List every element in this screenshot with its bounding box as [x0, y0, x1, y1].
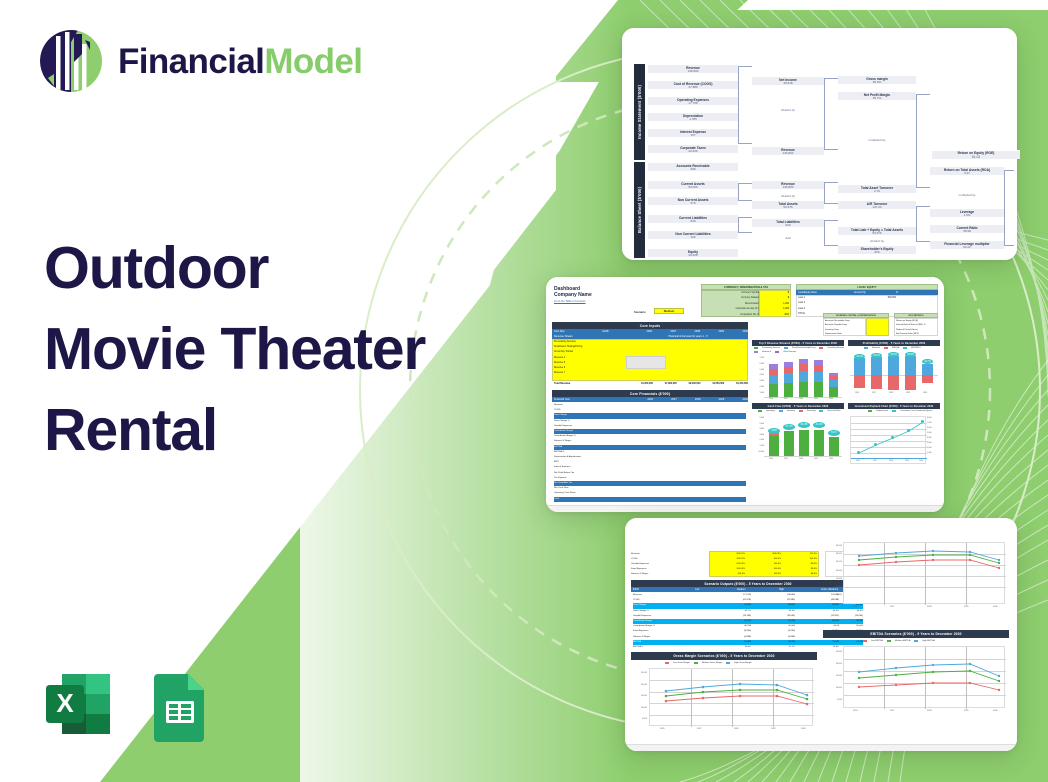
dupont-node: Gross margin65.0%	[838, 75, 916, 84]
dupont-node: Current Assets50,006	[648, 180, 738, 189]
scenario-select[interactable]: Medium	[654, 308, 684, 314]
investment-payback-chart-title: Investment Payback Chart ($'000) - 5 Yea…	[848, 403, 940, 409]
scenario-outputs-low: 171,130 (61,578) 70,552 63.7% (13,196) 5…	[705, 593, 751, 650]
dupont-connector	[916, 206, 930, 242]
brand-wordmark: FinancialModel	[118, 44, 362, 79]
key-metrics-rows: Return on Equity (ROE) Internal Rate of …	[896, 319, 936, 337]
gross-margin-legend: Low Gross Margin Medium Gross Margin Hig…	[665, 662, 752, 664]
scenario-screenshot[interactable]: Revenue COGS Variable Expenses Fixed Exp…	[625, 518, 1017, 751]
dupont-connector	[824, 182, 838, 204]
dupont-node: Revenue136,800	[752, 180, 824, 189]
income-statement-spine: Income Statement ($'000)	[634, 64, 645, 160]
cash-flow-yaxis: 6,000 5,000 4,000 3,000 2,000 1,000 (1,0…	[752, 416, 764, 455]
dupont-node: Cost of Revenue (COGS)47,880	[648, 80, 738, 89]
balance-sheet-spine: Balance Sheet ($'000)	[634, 162, 645, 258]
loan-row-amounts: 500,000	[854, 296, 896, 301]
dupont-node: Net Profit Margin35.7%	[838, 91, 916, 100]
financial-model-logo-icon	[38, 28, 104, 94]
working-capital-rows: Accounts Receivable Days Accounts Payabl…	[825, 319, 866, 337]
dupont-node: Operating Expenses17,758	[648, 96, 738, 105]
cash-flow-chart-title: Cash Flow ($'000) - 5 Years to December …	[752, 403, 844, 409]
dashboard-screenshot[interactable]: DashboardCompany Name Go to the Table of…	[546, 277, 944, 512]
dashboard-title: DashboardCompany Name	[554, 286, 592, 299]
dupont-operator: divided by	[752, 108, 824, 112]
cash-flow-plot: 4,500 25,730 30,350 31,600 8,017 2026 20…	[764, 416, 842, 464]
dupont-node: Revenue136,800	[752, 146, 824, 155]
dupont-node: Net Income48,618	[752, 76, 824, 85]
scenario-outputs-med: 136,800 (47,880) 88,920 65.0% (13,043) 7…	[753, 593, 795, 650]
dupont-node: Total Assets50,576	[752, 200, 824, 209]
dupont-node: Equity49,628	[648, 248, 738, 257]
currency-panel-values-text: $ $ 1,000 1,000 30%	[761, 291, 789, 318]
core-inputs-header: Core Inputs	[552, 322, 748, 329]
gross-margin-plot: 2026 2027 2028 2029 2030	[649, 668, 813, 726]
core-inputs-total-row: Total Revenue 16,200,000 27,900,000 39,4…	[552, 382, 748, 385]
dupont-node: Depreciation1,785	[648, 112, 738, 121]
scenario-med-col: 309.03% 105.0% 100.0% 100.0% 100.0%	[747, 552, 781, 577]
scenario-top-line-plot: 2026 2027 2028 2029 2030	[843, 542, 1005, 604]
dupont-operator: multiplied by	[930, 193, 1004, 197]
dupont-analysis-screenshot[interactable]: Income Statement ($'000) Balance Sheet (…	[622, 28, 1017, 260]
dupont-connector	[738, 66, 752, 144]
scenario-top-yaxis: 35,000 30,000 25,000 20,000 15,000 10,00…	[825, 542, 842, 599]
core-inputs-row-labels: Pre-booking Services Small Event Hosting…	[554, 340, 582, 376]
top5-revenue-legend: Pre-booking Services Small Event Hosting…	[754, 347, 844, 349]
google-sheets-icon	[142, 668, 218, 744]
dupont-node: Revenue136,800	[648, 64, 738, 73]
profitability-chart-title: Profitability ($'000) - 5 Years to Decem…	[848, 340, 940, 346]
scenario-label: Scenario	[634, 310, 646, 314]
sheet-tab-strip[interactable]	[546, 505, 944, 512]
dupont-node: Current Ratio58.98	[930, 224, 1004, 233]
dupont-connector	[738, 183, 752, 201]
cash-flow-legend: Operating Investing Financing Net Cash F…	[758, 410, 841, 412]
ebitda-scenarios-title: EBITDA Scenarios ($'000) - 5 Years to De…	[823, 630, 1009, 638]
profitability-plot: 44.2% 43.0% 44.6% 43.8% 43.7% 2026 2027 …	[850, 352, 938, 398]
dashboard-toc-link[interactable]: Go to the Table of Contents	[554, 300, 586, 303]
svg-text:X: X	[56, 688, 74, 718]
page-title: Outdoor Movie Theater Rental	[44, 228, 434, 470]
investment-payback-legend: Payback year Cumulative Cash Combined (S…	[868, 410, 932, 412]
profitability-legend: Revenue EBITDA EBITDA %	[864, 347, 921, 349]
dupont-node: Total Liab + Equity = Total Assets50,576	[838, 226, 916, 235]
dupont-node: Non Current Liabilities100	[648, 230, 738, 239]
dupont-node: Total Liabilities949	[752, 218, 824, 227]
dupont-operator: Add	[752, 236, 824, 240]
scenario-low-col: 303.07% 103.01% 103.03% 103.05% 103.0%	[711, 552, 745, 577]
dupont-node: Leverage1.0%	[930, 208, 1004, 217]
hero-left-panel: FinancialModel Outdoor Movie Theater Ren…	[0, 0, 470, 782]
dupont-node: Total Asset Turnover2.70	[838, 184, 916, 193]
top5-revenue-chart-title: Top 5 Revenue Streams ($'000) - 5 Years …	[752, 340, 844, 346]
dupont-operator: divided by	[752, 194, 824, 198]
dupont-node: Shareholder's Equity800	[838, 245, 916, 254]
dupont-node: Current Liabilities848	[648, 214, 738, 223]
investment-payback-yaxis: 8,000 7,000 6,000 5,000 4,000 3,000 2,00…	[927, 416, 940, 456]
dupont-node: A/R Turnover137.24	[838, 200, 916, 209]
currency-panel-rows: Currency Symbol Currency Dataset Denomin…	[703, 291, 759, 318]
ebitda-yaxis: 25,000 20,000 15,000 10,000 5,000	[825, 646, 842, 706]
core-financials-row-labels: Revenue COGS Gross Margin Gross Margin %…	[554, 403, 746, 502]
gross-margin-scenarios-title: Gross Margin Scenarios ($'000) - 5 Years…	[631, 652, 817, 660]
dupont-node: Accounts Receivable998	[648, 162, 738, 171]
dupont-node: Interest Expense137	[648, 128, 738, 137]
dupont-connector	[824, 220, 838, 246]
brand-word-model: Model	[264, 42, 362, 81]
top5-revenue-yaxis: 7,000 6,000 5,000 4,000 3,000 2,000 1,00…	[752, 356, 764, 397]
core-financials-header: Core Financials ($'000)	[552, 390, 748, 397]
dupont-connector	[1004, 170, 1014, 246]
dupont-roe-node: Return on Equity (ROE) 61.03	[932, 150, 1020, 159]
dupont-connector	[916, 94, 930, 188]
top5-revenue-plot: 2026 2027 2028 2029 2030	[764, 356, 842, 398]
dupont-connector	[824, 78, 838, 150]
ebitda-legend: Low EBITDA Medium EBITDA High EBITDA	[863, 640, 935, 642]
investment-payback-plot: 2026 2027 2028 2029 2030	[850, 416, 926, 464]
dupont-connector	[738, 217, 752, 233]
top5-revenue-legend-2: Revenue 4 Other Revenue	[754, 351, 796, 353]
dupont-node: Return on Total Assets (ROA)0.97	[930, 166, 1004, 175]
dupont-node: Corporate Taxes20,626	[648, 144, 738, 153]
core-inputs-blank-cells	[626, 356, 666, 369]
brand-word-financial: Financial	[118, 42, 264, 81]
brand-logo[interactable]: FinancialModel	[38, 28, 362, 94]
scenario-assumption-labels: Revenue COGS Variable Expenses Fixed Exp…	[631, 552, 709, 577]
loan-row-labels: Loan 1 Loan 2 Loan 3 TOTAL	[798, 296, 805, 317]
gross-margin-yaxis: 25,000 20,000 15,000 10,000 5,000	[631, 668, 647, 726]
scenario-high-col: 120.0% 103.0% 98.0% 98.0% 98.0%	[783, 552, 817, 577]
working-capital-values[interactable]	[866, 318, 889, 336]
ebitda-plot: 2026 2027 2028 2029 2030	[843, 646, 1005, 708]
file-format-icons: X	[40, 668, 218, 744]
dupont-node: Financial Leverage multiplier63.22	[930, 240, 1004, 249]
dupont-operator: divided by	[838, 239, 916, 243]
dupont-node: Non Current Assets570	[648, 196, 738, 205]
sheet-tab-strip[interactable]	[625, 744, 1017, 751]
dupont-operator: multiplied by	[838, 138, 916, 142]
microsoft-excel-icon: X	[40, 668, 116, 744]
